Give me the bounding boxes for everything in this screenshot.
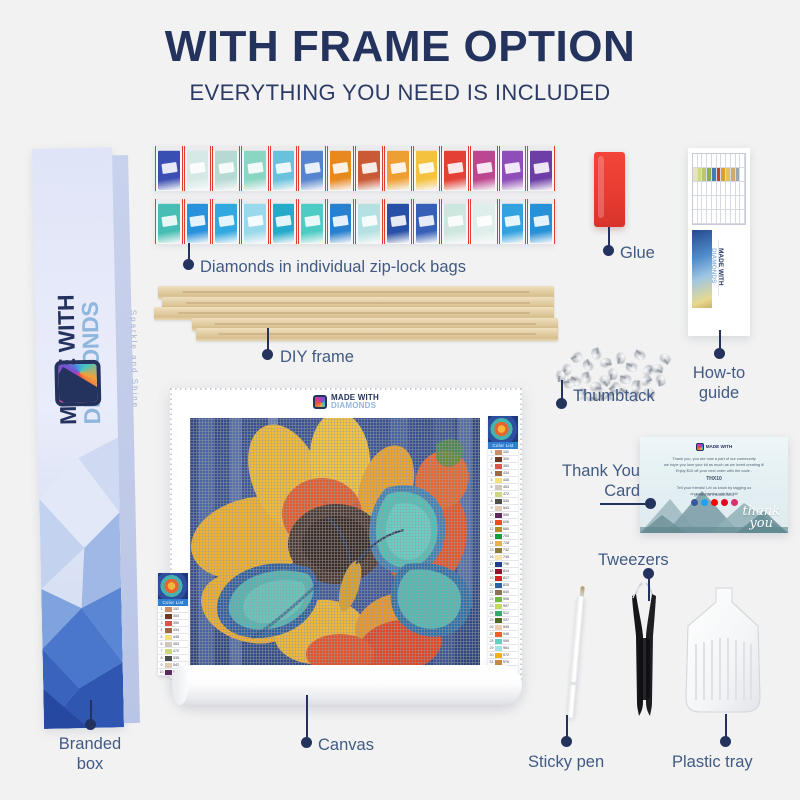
legend-row: 24912	[488, 610, 518, 617]
diamond-bag	[184, 199, 212, 244]
diamond-bag	[384, 146, 412, 191]
callout-dot-plastic-tray	[720, 736, 731, 747]
callout-label-diamonds: Diamonds in individual zip-lock bags	[200, 257, 550, 277]
frame-slat	[196, 328, 558, 341]
callout-label-plastic-tray: Plastic tray	[672, 752, 800, 772]
legend-row: 26945	[488, 624, 518, 631]
legend-row: 19817	[488, 575, 518, 582]
legend-row: 22906	[488, 596, 518, 603]
callout-dot-diamonds	[183, 259, 194, 270]
thumbtack	[581, 359, 594, 373]
how-to-guide-sheet: MADE WITHDIAMONDS	[688, 148, 750, 336]
diamond-bag	[212, 199, 240, 244]
guide-logo: MADE WITHDIAMONDS	[710, 248, 724, 288]
legend-row: 9543	[488, 505, 518, 512]
legend-row: 2300	[488, 456, 518, 463]
callout-dot-sticky-pen	[561, 736, 572, 747]
box-polygon-pattern	[38, 437, 124, 729]
guide-table-cell	[740, 210, 745, 224]
branded-box: MADE WITH DIAMONDS	[32, 147, 140, 729]
legend-row: 28959	[488, 638, 518, 645]
legend-row: 30972	[488, 652, 518, 659]
diamond-logo-icon	[313, 395, 327, 409]
callout-line-canvas	[306, 695, 308, 740]
guide-table-cell	[740, 182, 745, 196]
diamond-bag	[212, 146, 240, 191]
legend-row: 13700	[488, 533, 518, 540]
diamond-bags-row-1	[155, 146, 555, 191]
legend-row: 1152	[158, 606, 188, 613]
legend-row: 11606	[488, 519, 518, 526]
pen-ring	[570, 682, 577, 686]
pinterest-icon	[721, 499, 728, 506]
tweezers	[630, 578, 660, 718]
guide-table-cell	[740, 168, 745, 182]
callout-line-glue	[608, 227, 610, 247]
callout-label-branded-box: Branded box	[30, 734, 150, 774]
callout-label-thank-you-card: Thank You Card	[530, 461, 640, 501]
sticky-pen	[567, 586, 585, 718]
diamond-bags-group	[155, 146, 555, 246]
callout-line-thank-you-card	[600, 503, 648, 505]
callout-label-sticky-pen: Sticky pen	[528, 752, 658, 772]
legend-row: 5445	[158, 634, 188, 641]
legend-row: 6453	[488, 484, 518, 491]
thumbtack	[626, 364, 638, 373]
diamond-bag	[155, 146, 183, 191]
card-message-line: Enjoy $10 off your next order with the c…	[654, 468, 774, 474]
legend-thumbnail	[488, 416, 518, 442]
legend-row: 3350	[158, 620, 188, 627]
callout-dot-glue	[603, 245, 614, 256]
callout-line-plastic-tray	[725, 714, 727, 738]
legend-row: 8535	[488, 498, 518, 505]
twitter-icon	[701, 499, 708, 506]
legend-row: 3350	[488, 463, 518, 470]
diamond-bag	[298, 146, 326, 191]
diamond-bags-row-2	[155, 199, 555, 244]
diamond-bag	[241, 146, 269, 191]
legend-header: Color List	[488, 442, 518, 449]
thumbtack	[656, 373, 667, 386]
diamond-bag	[327, 146, 355, 191]
youtube-icon	[711, 499, 718, 506]
legend-row: 10550	[488, 512, 518, 519]
diamond-bag	[499, 199, 527, 244]
guide-color-table	[692, 153, 746, 225]
callout-label-thumbtack: Thumbtack	[573, 386, 733, 406]
legend-row: 16745	[488, 554, 518, 561]
thumbtack	[652, 363, 664, 372]
plastic-tray	[680, 586, 768, 714]
card-logo: MADE WITH	[640, 443, 788, 451]
diamond-bag	[470, 146, 498, 191]
diamond-bag	[441, 146, 469, 191]
thumbtack	[633, 350, 646, 362]
diamond-bag	[327, 199, 355, 244]
card-thank-you-script: thank you	[742, 506, 780, 529]
diamond-logo-icon	[696, 443, 704, 451]
diamond-bag	[527, 146, 555, 191]
canvas-logo-line2: DIAMONDS	[331, 402, 379, 410]
card-discount-code: THX10	[654, 476, 774, 484]
legend-row: 12680	[488, 526, 518, 533]
diy-frame-slats	[152, 286, 560, 342]
branded-box-front: MADE WITH DIAMONDS	[32, 147, 124, 729]
instagram-icon	[731, 499, 738, 506]
legend-row: 6453	[158, 641, 188, 648]
brand-tagline: Sparkle and Shine	[128, 279, 140, 439]
legend-row: 17796	[488, 561, 518, 568]
canvas-rolled-tube	[172, 665, 522, 705]
guide-table-cell	[740, 196, 745, 210]
pen-body	[567, 596, 585, 718]
facebook-icon	[691, 499, 698, 506]
legend-row: 27946	[488, 631, 518, 638]
legend-row: 7472	[158, 648, 188, 655]
legend-row: 2300	[158, 613, 188, 620]
callout-dot-canvas	[301, 737, 312, 748]
card-logo-line1: MADE WITH	[706, 445, 733, 450]
diamond-bag	[270, 199, 298, 244]
legend-row: 21840	[488, 589, 518, 596]
callout-label-tweezers: Tweezers	[598, 550, 738, 570]
thumbtack	[659, 352, 673, 365]
diamond-bag	[499, 146, 527, 191]
diamond-bag	[413, 146, 441, 191]
callout-dot-thumbtack	[556, 398, 567, 409]
callout-label-diy-frame: DIY frame	[280, 347, 480, 367]
diamond-bag	[298, 199, 326, 244]
legend-row: 18814	[488, 568, 518, 575]
diamond-bag	[384, 199, 412, 244]
legend-row: 25937	[488, 617, 518, 624]
thumbtack	[590, 347, 601, 360]
diamond-bag	[441, 199, 469, 244]
color-legend-left: Color List 11522300335044345445645374728…	[158, 573, 188, 676]
legend-thumbnail	[158, 573, 188, 599]
legend-row: 8535	[158, 655, 188, 662]
legend-row: 23907	[488, 603, 518, 610]
guide-table-cell	[740, 154, 745, 168]
diamond-bag	[355, 146, 383, 191]
diamond-bag	[155, 199, 183, 244]
legend-row: 1152	[488, 449, 518, 456]
card-message: Thank you, you are now a part of our com…	[654, 456, 774, 497]
diamond-bag	[413, 199, 441, 244]
canvas-logo: MADE WITH DIAMONDS	[170, 394, 522, 411]
legend-row: 4434	[158, 627, 188, 634]
thumbtack	[620, 376, 631, 384]
callout-dot-branded-box	[85, 719, 96, 730]
callout-dot-how-to-guide	[714, 348, 725, 359]
diamond-bag	[355, 199, 383, 244]
diamond-bag	[527, 199, 555, 244]
page-subtitle: EVERYTHING YOU NEED IS INCLUDED	[0, 80, 800, 106]
legend-row: 14728	[488, 540, 518, 547]
canvas-sheet: MADE WITH DIAMONDS	[170, 388, 522, 680]
card-social-handle: @MADEWITHDIAMONDS	[640, 493, 788, 497]
legend-row: 15732	[488, 547, 518, 554]
thumbtack	[580, 372, 591, 385]
infographic-root: WITH FRAME OPTION EVERYTHING YOU NEED IS…	[0, 0, 800, 800]
artwork-drill-shading	[190, 418, 480, 666]
diamond-bag	[184, 146, 212, 191]
legend-row: 4434	[488, 470, 518, 477]
diamond-bag	[470, 199, 498, 244]
thumbtack	[617, 352, 626, 364]
diamond-bag	[241, 199, 269, 244]
canvas-artwork	[190, 418, 480, 666]
thumbtack	[639, 373, 653, 386]
color-legend-right: Color List 11522300335044345445645374728…	[488, 416, 518, 687]
page-title: WITH FRAME OPTION	[0, 22, 800, 72]
legend-row: 7472	[488, 491, 518, 498]
legend-row: 5445	[488, 477, 518, 484]
thumbtack	[599, 357, 612, 368]
callout-line-tweezers	[648, 575, 650, 601]
diamond-logo-icon	[54, 360, 101, 407]
callout-label-canvas: Canvas	[318, 735, 478, 755]
thank-you-card: MADE WITH Thank you, you are now a part …	[640, 437, 788, 533]
legend-row: 20825	[488, 582, 518, 589]
legend-header: Color List	[158, 599, 188, 606]
callout-dot-diy-frame	[262, 349, 273, 360]
glue-bottle	[594, 152, 625, 227]
diamond-bag	[270, 146, 298, 191]
legend-row: 29964	[488, 645, 518, 652]
